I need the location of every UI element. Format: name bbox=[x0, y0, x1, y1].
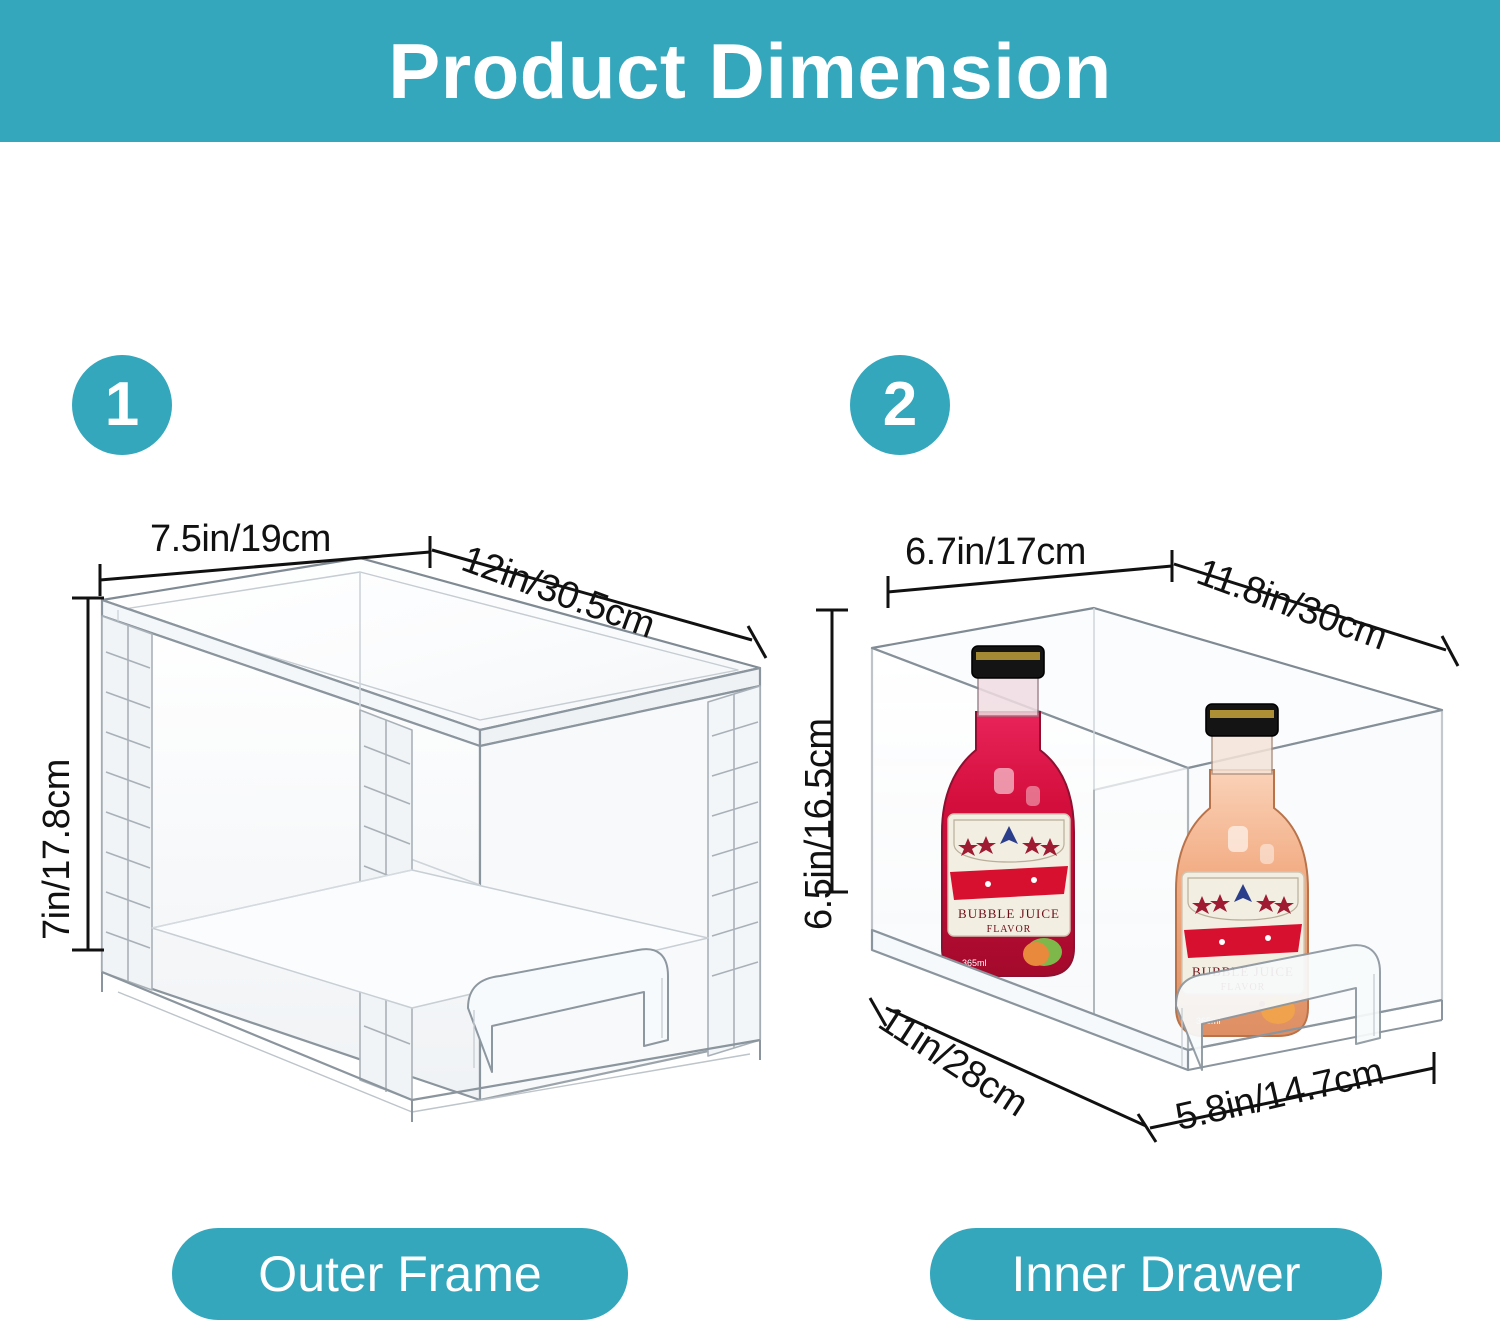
dim-label-outer-height: 7in/17.8cm bbox=[38, 759, 76, 940]
outer-frame-pill: Outer Frame bbox=[172, 1228, 628, 1320]
pill-label: Inner Drawer bbox=[1012, 1249, 1301, 1299]
inner-drawer-pill: Inner Drawer bbox=[930, 1228, 1382, 1320]
badge-number: 2 bbox=[883, 374, 917, 436]
badge-number: 1 bbox=[105, 374, 139, 436]
dim-label-inner-width: 6.7in/17cm bbox=[905, 533, 1086, 571]
page-title: Product Dimension bbox=[388, 32, 1112, 110]
product-badge-1: 1 bbox=[72, 355, 172, 455]
product-badge-2: 2 bbox=[850, 355, 950, 455]
pill-label: Outer Frame bbox=[258, 1249, 541, 1299]
dim-label-outer-width: 7.5in/19cm bbox=[150, 520, 331, 558]
page-header: Product Dimension bbox=[0, 0, 1500, 142]
dim-label-inner-height: 6.5in/16.5cm bbox=[800, 718, 838, 930]
outer-frame-dimension-lines bbox=[0, 480, 800, 1000]
